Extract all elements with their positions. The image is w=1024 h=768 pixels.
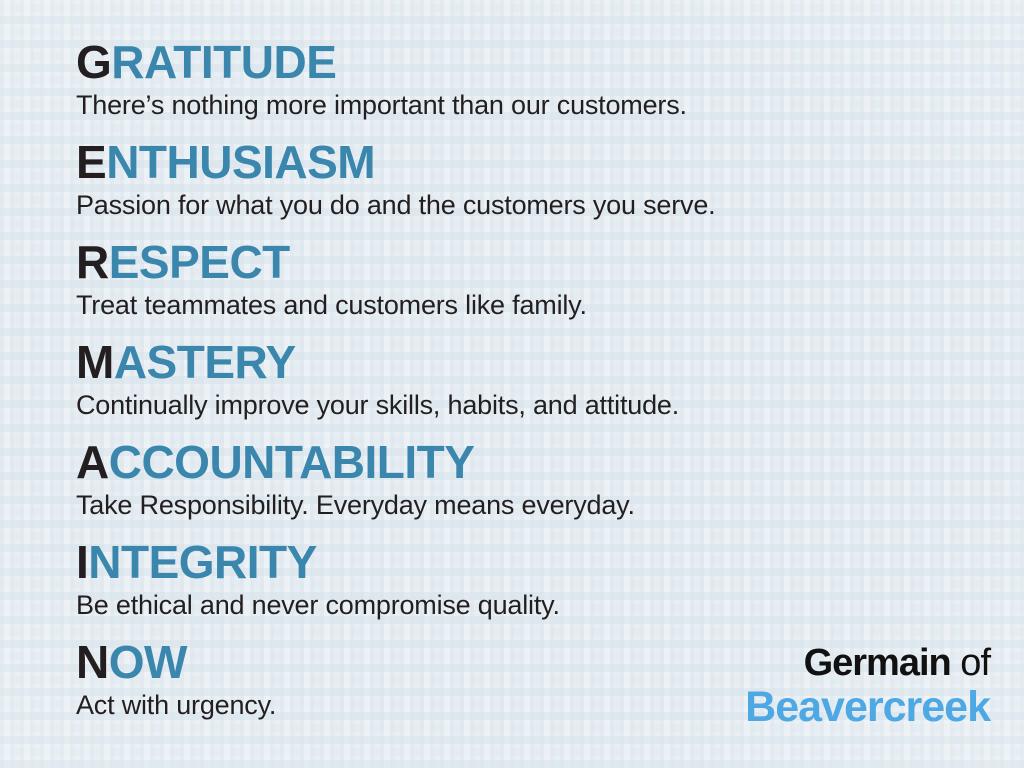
value-description-accountability: Take Responsibility. Everyday means ever… xyxy=(76,486,956,521)
value-initial-letter: R xyxy=(76,236,109,288)
value-word-integrity: INTEGRITY xyxy=(76,538,956,586)
value-block-gratitude: GRATITUDE There’s nothing more important… xyxy=(76,38,956,138)
logo-line-primary: Germain of xyxy=(745,642,990,684)
value-remaining-letters: NTHUSIASM xyxy=(106,136,375,188)
value-block-integrity: INTEGRITY Be ethical and never compromis… xyxy=(76,538,956,638)
logo-connector-word: of xyxy=(951,642,990,684)
value-word-mastery: MASTERY xyxy=(76,338,956,386)
value-description-respect: Treat teammates and customers like famil… xyxy=(76,286,956,321)
value-initial-letter: E xyxy=(76,136,106,188)
value-remaining-letters: RATITUDE xyxy=(111,36,336,88)
value-initial-letter: I xyxy=(76,536,88,588)
dealership-logo: Germain of Beavercreek xyxy=(745,642,990,730)
value-remaining-letters: NTEGRITY xyxy=(88,536,317,588)
value-remaining-letters: ESPECT xyxy=(109,236,290,288)
logo-brand-name: Germain xyxy=(804,642,951,684)
value-block-enthusiasm: ENTHUSIASM Passion for what you do and t… xyxy=(76,138,956,238)
values-poster: GRATITUDE There’s nothing more important… xyxy=(0,0,1024,768)
value-description-gratitude: There’s nothing more important than our … xyxy=(76,86,956,121)
value-word-gratitude: GRATITUDE xyxy=(76,38,956,86)
value-description-mastery: Continually improve your skills, habits,… xyxy=(76,386,956,421)
value-word-accountability: ACCOUNTABILITY xyxy=(76,438,956,486)
value-word-enthusiasm: ENTHUSIASM xyxy=(76,138,956,186)
value-remaining-letters: OW xyxy=(109,636,187,688)
value-description-integrity: Be ethical and never compromise quality. xyxy=(76,586,956,621)
value-initial-letter: M xyxy=(76,336,114,388)
value-block-accountability: ACCOUNTABILITY Take Responsibility. Ever… xyxy=(76,438,956,538)
value-initial-letter: G xyxy=(76,36,111,88)
value-initial-letter: N xyxy=(76,636,109,688)
value-block-mastery: MASTERY Continually improve your skills,… xyxy=(76,338,956,438)
value-word-respect: RESPECT xyxy=(76,238,956,286)
value-block-respect: RESPECT Treat teammates and customers li… xyxy=(76,238,956,338)
value-remaining-letters: CCOUNTABILITY xyxy=(109,436,475,488)
logo-location-name: Beavercreek xyxy=(745,684,990,730)
core-values-list: GRATITUDE There’s nothing more important… xyxy=(76,38,956,738)
value-description-enthusiasm: Passion for what you do and the customer… xyxy=(76,186,956,221)
value-initial-letter: A xyxy=(76,436,109,488)
value-remaining-letters: ASTERY xyxy=(114,336,296,388)
